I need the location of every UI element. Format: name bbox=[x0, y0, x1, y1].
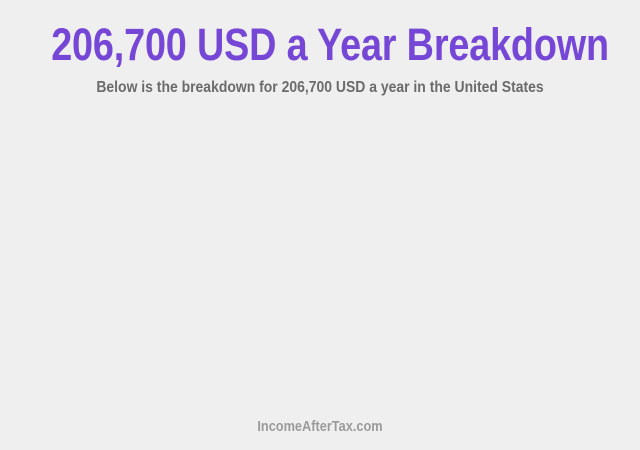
site-credit: IncomeAfterTax.com bbox=[38, 406, 601, 435]
page-header: 206,700 USD a Year Breakdown Below is th… bbox=[0, 0, 640, 96]
page-footer: IncomeAfterTax.com bbox=[0, 406, 640, 450]
chart-plot-region bbox=[0, 120, 640, 405]
income-breakdown-page: 206,700 USD a Year Breakdown Below is th… bbox=[0, 0, 640, 450]
page-title: 206,700 USD a Year Breakdown bbox=[51, 0, 589, 68]
page-subtitle: Below is the breakdown for 206,700 USD a… bbox=[32, 68, 608, 96]
chart-area: Plot area is blank in the screenshot; no… bbox=[0, 120, 640, 405]
